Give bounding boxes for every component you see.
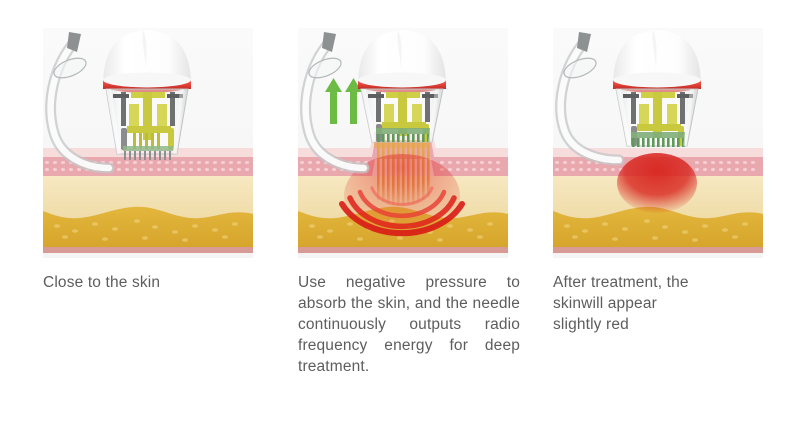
caption-line: slightly red [553, 316, 629, 333]
caption-step-3: After treatment, theskinwill appearsligh… [553, 272, 777, 335]
internal-yellow-crossbar-mid [127, 126, 171, 133]
base-layer [43, 247, 253, 253]
base-layer [553, 247, 763, 253]
caption-line: Use negative pressure to [298, 274, 520, 291]
needle-base-plate [376, 128, 430, 134]
needle-base-plate [631, 132, 685, 138]
internal-yellow-shaft [653, 92, 662, 138]
rf-microneedle-handpiece [103, 30, 191, 160]
device-collar-top [358, 73, 446, 88]
internal-yellow-crossbar-mid [637, 124, 681, 131]
rf-microneedle-handpiece [613, 30, 701, 147]
caption-step-2: Use negative pressure to absorb the skin… [298, 272, 520, 377]
figure-device-resting-on-skin [43, 28, 253, 258]
panel-step-3: After treatment, theskinwill appearsligh… [530, 0, 780, 429]
caption-line: skinwill appear [553, 295, 657, 312]
panel-step-2: Use negative pressure to absorb the skin… [275, 0, 525, 429]
base-layer [298, 247, 508, 253]
device-collar-top [613, 73, 701, 88]
figure-device-suctioning-skin-with-rf-energy [298, 28, 508, 258]
treated-red-blotch [617, 153, 697, 213]
device-internal-mechanism [113, 92, 183, 150]
figure-skin-after-treatment-reddened [553, 28, 763, 258]
caption-step-1: Close to the skin [43, 272, 267, 293]
internal-yellow-crossbar-mid [382, 122, 426, 129]
device-collar-top [103, 73, 191, 88]
illustration-board: Close to the skin [0, 0, 800, 429]
needle-base-plate [123, 146, 173, 151]
caption-line: After treatment, the [553, 274, 689, 291]
caption-line: absorb the skin, and the [298, 295, 468, 312]
rf-microneedle-handpiece [358, 30, 446, 142]
panel-step-1: Close to the skin [20, 0, 270, 429]
